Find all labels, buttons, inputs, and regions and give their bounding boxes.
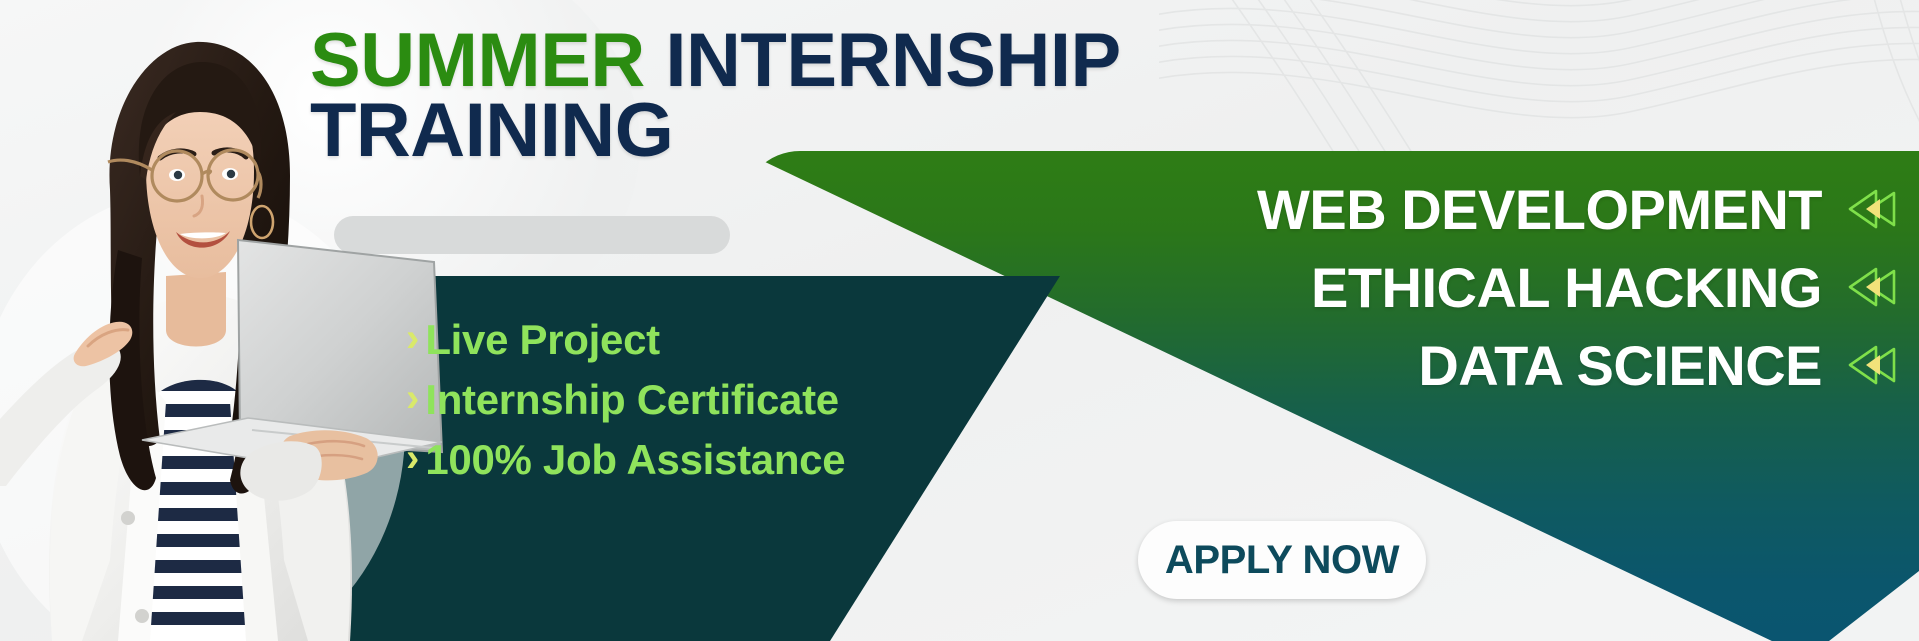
course-item-ethical-hacking[interactable]: ETHICAL HACKING <box>898 248 1898 326</box>
double-chevron-left-icon <box>1846 265 1898 309</box>
course-label: DATA SCIENCE <box>1418 333 1822 398</box>
course-item-data-science[interactable]: DATA SCIENCE <box>898 326 1898 404</box>
internship-training-banner: SUMMER INTERNSHIP TRAINING WEB DEVELOPME… <box>0 0 1919 641</box>
feature-item-internship-certificate: › Internship Certificate <box>406 370 845 430</box>
chevron-right-icon: › <box>406 318 419 358</box>
feature-label: Internship Certificate <box>425 376 838 424</box>
feature-item-job-assistance: › 100% Job Assistance <box>406 430 845 490</box>
avatar <box>0 0 460 641</box>
feature-item-live-project: › Live Project <box>406 310 845 370</box>
apply-now-button[interactable]: APPLY NOW <box>1138 521 1426 599</box>
chevron-right-icon: › <box>406 378 419 418</box>
double-chevron-left-icon <box>1846 343 1898 387</box>
apply-now-label: APPLY NOW <box>1165 538 1399 583</box>
course-item-web-development[interactable]: WEB DEVELOPMENT <box>898 170 1898 248</box>
feature-label: 100% Job Assistance <box>425 436 845 484</box>
feature-label: Live Project <box>425 316 660 364</box>
features-list: › Live Project › Internship Certificate … <box>406 310 845 490</box>
chevron-right-icon: › <box>406 438 419 478</box>
headline-word-internship: INTERNSHIP <box>665 18 1120 103</box>
course-label: WEB DEVELOPMENT <box>1257 177 1822 242</box>
courses-list: WEB DEVELOPMENT ETHICAL HACKING DATA SCI… <box>898 170 1898 404</box>
double-chevron-left-icon <box>1846 187 1898 231</box>
course-label: ETHICAL HACKING <box>1311 255 1822 320</box>
